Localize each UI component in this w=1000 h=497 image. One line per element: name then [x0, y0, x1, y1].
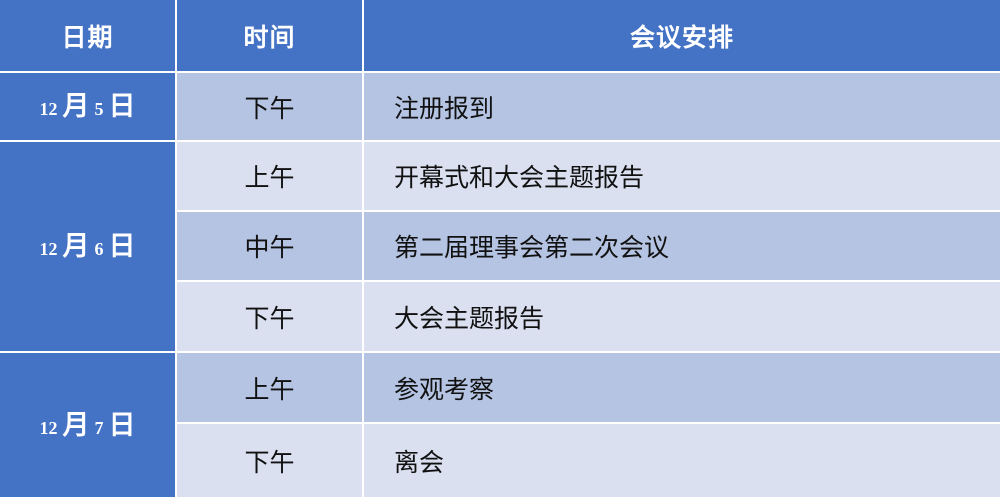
conference-schedule-table: 日期 时间 会议安排 12 月 5 日 12 月 6 日 12 月 7 日 下午… — [0, 0, 1000, 497]
table-row-time: 中午 — [177, 210, 364, 280]
date-day-char: 日 — [109, 412, 136, 439]
table-row-time: 下午 — [177, 280, 364, 351]
table-row-agenda: 开幕式和大会主题报告 — [364, 140, 1000, 210]
date-day-number: 5 — [95, 100, 104, 118]
table-row-agenda: 离会 — [364, 422, 1000, 497]
table-row-time: 上午 — [177, 351, 364, 422]
date-month-number: 12 — [40, 100, 58, 118]
column-header-date: 日期 — [0, 0, 177, 71]
date-day-number: 7 — [95, 419, 104, 437]
date-month-char: 月 — [63, 412, 90, 439]
date-month-char: 月 — [63, 233, 90, 260]
date-cell-dec-6: 12 月 6 日 — [0, 140, 177, 351]
date-text-dec-5: 12 月 5 日 — [40, 93, 136, 120]
date-text-dec-6: 12 月 6 日 — [40, 233, 136, 260]
date-month-char: 月 — [63, 93, 90, 120]
table-row-agenda: 大会主题报告 — [364, 280, 1000, 351]
table-row-time: 上午 — [177, 140, 364, 210]
table-row-time: 下午 — [177, 71, 364, 140]
date-cell-dec-7: 12 月 7 日 — [0, 351, 177, 497]
table-row-agenda: 第二届理事会第二次会议 — [364, 210, 1000, 280]
date-month-number: 12 — [40, 240, 58, 258]
date-cell-dec-5: 12 月 5 日 — [0, 71, 177, 140]
table-row-agenda: 参观考察 — [364, 351, 1000, 422]
table-row-agenda: 注册报到 — [364, 71, 1000, 140]
date-day-char: 日 — [109, 93, 136, 120]
date-month-number: 12 — [40, 419, 58, 437]
date-day-number: 6 — [95, 240, 104, 258]
column-header-time: 时间 — [177, 0, 364, 71]
date-day-char: 日 — [109, 233, 136, 260]
column-header-agenda: 会议安排 — [364, 0, 1000, 71]
table-row-time: 下午 — [177, 422, 364, 497]
date-text-dec-7: 12 月 7 日 — [40, 412, 136, 439]
